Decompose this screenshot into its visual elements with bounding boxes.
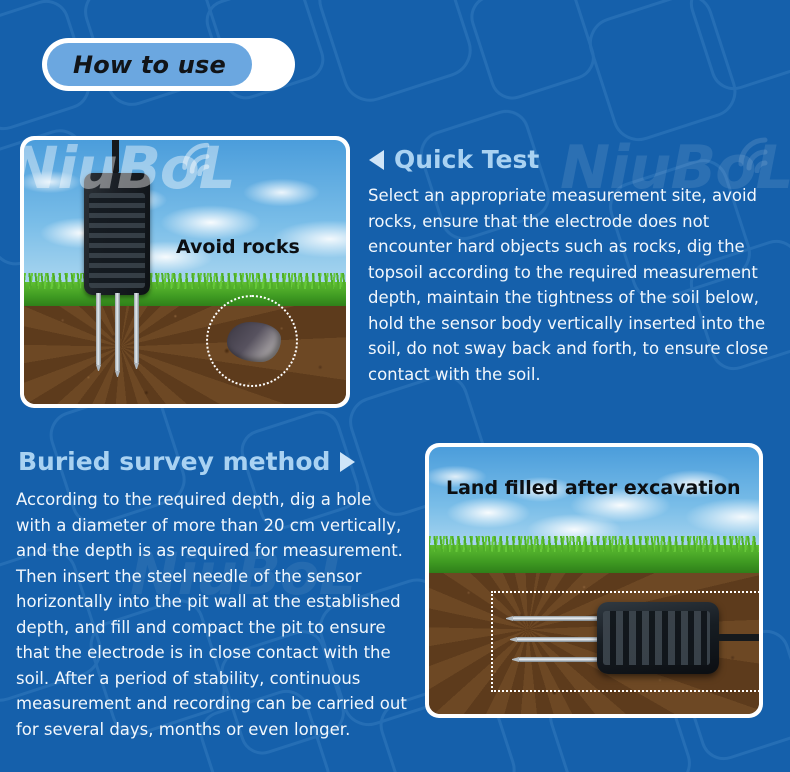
grass-layer (24, 282, 346, 308)
sky-layer (24, 140, 346, 290)
triangle-left-icon (369, 150, 384, 170)
sensor-prong (513, 616, 599, 621)
caption-land-filled: Land filled after excavation (446, 477, 741, 499)
sensor-body-horizontal (597, 602, 719, 674)
how-to-use-label: How to use (73, 51, 226, 79)
grass-layer (429, 545, 759, 575)
sensor-prong (96, 293, 101, 365)
heading-quick-test: Quick Test (369, 145, 539, 174)
soil-layer (24, 306, 346, 404)
body-text-quick-test: Select an appropriate measurement site, … (368, 183, 772, 387)
sensor-cable (717, 634, 759, 641)
rock-icon (227, 322, 281, 362)
sensor-prong (517, 637, 599, 642)
sensor-cable (112, 140, 119, 174)
body-text-buried-survey-method: According to the required depth, dig a h… (16, 487, 408, 742)
photo-quick-test-scene: NiuBoL (24, 140, 346, 404)
sensor-fins (89, 193, 144, 288)
how-to-use-badge: How to use (42, 38, 295, 91)
sensor-fins (603, 611, 710, 666)
sensor-prong (115, 293, 120, 371)
wifi-signal-icon-watermark (735, 128, 790, 173)
how-to-use-pill: How to use (47, 43, 252, 86)
sensor-prong (134, 293, 139, 363)
heading-quick-test-label: Quick Test (394, 145, 539, 174)
sensor-body-vertical (84, 173, 150, 295)
caption-avoid-rocks: Avoid rocks (176, 236, 300, 258)
heading-buried-survey-method: Buried survey method (18, 447, 355, 476)
sensor-prong (519, 657, 599, 662)
photo-quick-test: NiuBoL (20, 136, 350, 408)
triangle-right-icon (340, 452, 355, 472)
heading-buried-survey-method-label: Buried survey method (18, 447, 330, 476)
